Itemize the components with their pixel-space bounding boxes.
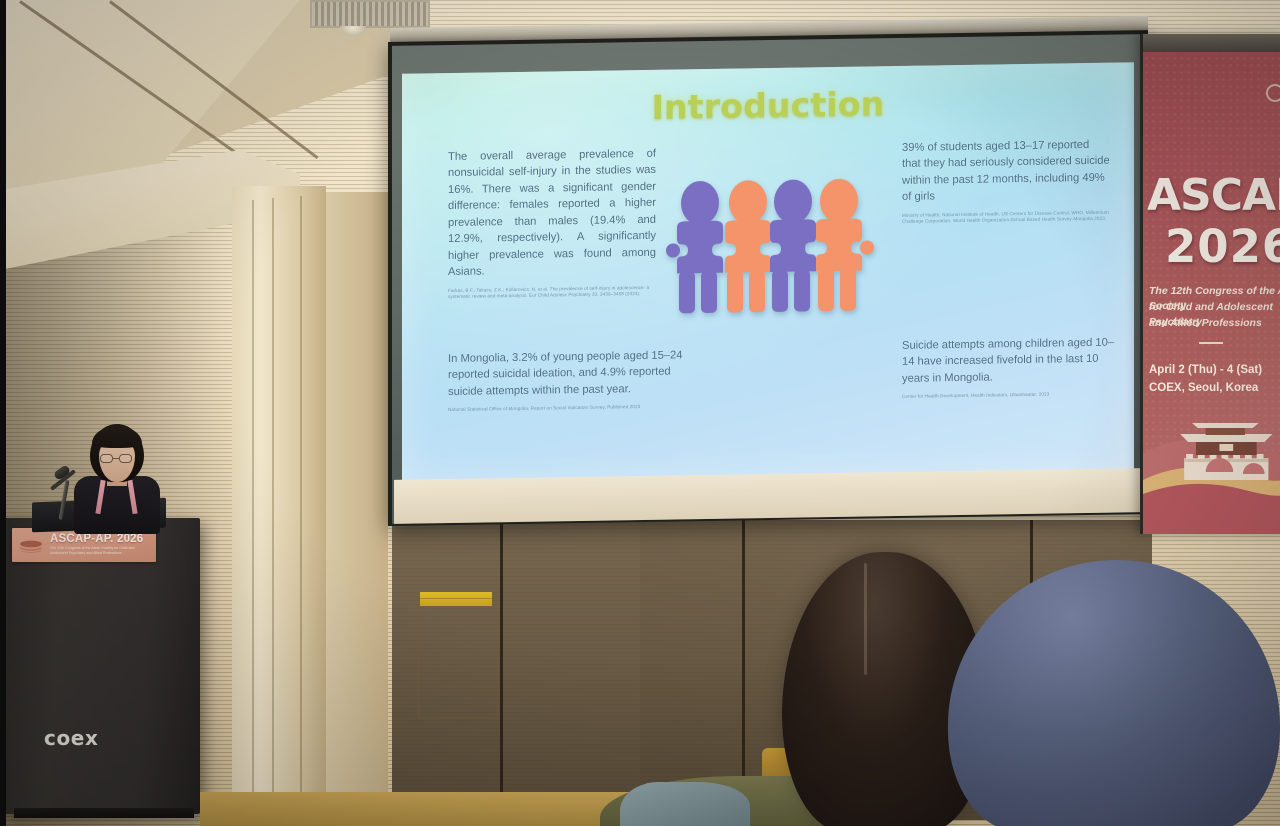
pillar-seam-3 — [300, 196, 302, 820]
wall-pillar-right — [326, 192, 388, 826]
photo-left-edge — [0, 0, 6, 826]
slide-text-bottom-left: In Mongolia, 3.2% of young people aged 1… — [448, 347, 688, 400]
wall-seam-b — [742, 520, 745, 820]
wall-pillar-left — [232, 186, 326, 826]
projection-screen: Introduction The overall average prevale… — [388, 22, 1150, 522]
banner-divider — [1199, 342, 1223, 344]
slide-citation-top-right: Ministry of Health, National Institute o… — [902, 209, 1110, 225]
slide-citation-top-left: Farkas, B.F.; Takacs, Z.K.; Kollarovics,… — [448, 284, 656, 300]
slide-text-top-right: 39% of students aged 13–17 reported that… — [902, 137, 1110, 206]
wall-seam-a — [500, 520, 503, 820]
presenter-fringe — [92, 426, 142, 448]
korean-palace-illustration — [1143, 384, 1280, 534]
presenter-glasses-left-lens — [100, 454, 113, 463]
slide-block-top-right: 39% of students aged 13–17 reported that… — [902, 137, 1110, 226]
podium-base — [14, 808, 194, 818]
slide-block-bottom-right: Suicide attempts among children aged 10–… — [902, 334, 1120, 400]
presenter — [72, 424, 162, 534]
podium-sign-subtitle: The 12th Congress of the Asian Society f… — [50, 546, 150, 556]
pillar-seam-1 — [252, 200, 254, 820]
banner-year-text: 2026 — [1165, 220, 1280, 273]
pillar-seam-2 — [272, 198, 274, 820]
conference-room-photo: Introduction The overall average prevale… — [0, 0, 1280, 826]
coex-logo: coex — [44, 726, 98, 750]
banner-date-text: April 2 (Thu) - 4 (Sat) — [1149, 364, 1280, 376]
presenter-glasses-right-lens — [119, 454, 132, 463]
slide-citation-bottom-left: National Statistical Office of Mongolia,… — [448, 404, 688, 414]
banner-subtitle-line-3: and Allied Professions — [1149, 316, 1280, 331]
presenter-glasses-bridge — [113, 458, 119, 459]
banner-top-bar — [1143, 34, 1280, 52]
wall-panel-frame — [418, 598, 498, 718]
banner-emblem-icon — [1266, 84, 1280, 102]
slide-title: Introduction — [402, 80, 1134, 130]
podium-sign-emblem-icon — [18, 538, 44, 554]
audience-jacket — [620, 782, 750, 826]
podium-sign-title: ASCAP-AP. 2026 — [50, 533, 143, 545]
slide-text-top-left: The overall average prevalence of nonsui… — [448, 146, 656, 281]
podium: coex — [2, 518, 200, 814]
slide-block-bottom-left: In Mongolia, 3.2% of young people aged 1… — [448, 347, 688, 414]
banner-logo-text: ASCAP — [1147, 170, 1280, 221]
slide-text-bottom-right: Suicide attempts among children aged 10–… — [902, 334, 1120, 387]
presentation-slide: Introduction The overall average prevale… — [402, 62, 1134, 485]
four-paper-people-icon — [664, 174, 874, 319]
slide-block-top-left: The overall average prevalence of nonsui… — [448, 146, 656, 301]
slide-citation-bottom-right: Center for Health Development, Health In… — [902, 391, 1120, 401]
ascap-congress-banner: ASCAP 2026 The 12th Congress of the Asia… — [1140, 34, 1280, 534]
